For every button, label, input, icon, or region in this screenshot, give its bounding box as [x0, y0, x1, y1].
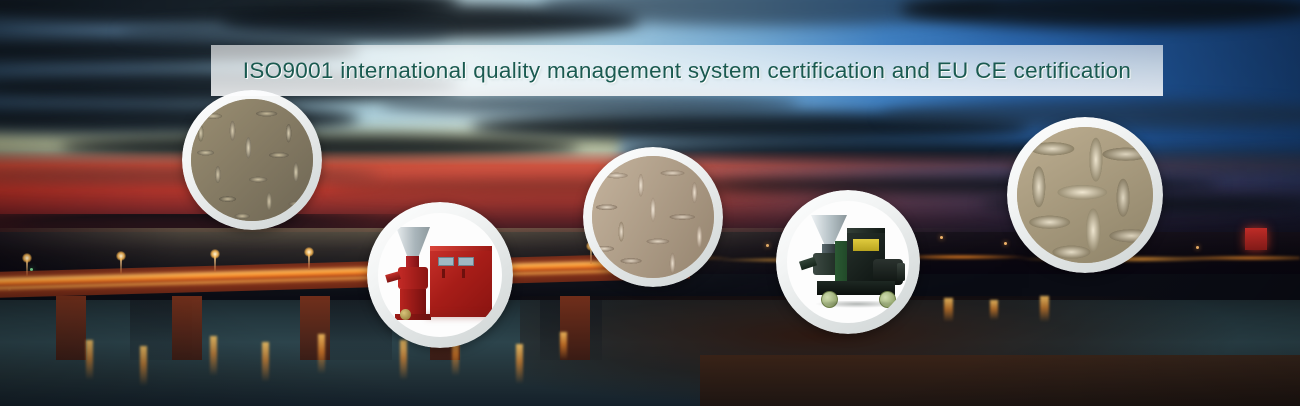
cabinet-display-right — [458, 257, 474, 266]
light-reflection — [86, 340, 93, 380]
bridge-lamp — [26, 258, 28, 276]
circle-red-pellet-mill — [367, 202, 513, 348]
circle-image — [592, 156, 714, 278]
light-reflection — [140, 346, 147, 386]
machine-die-housing — [398, 267, 428, 289]
wood-pellets-texture — [1017, 127, 1153, 263]
machine-body-cap — [847, 228, 885, 233]
cabinet-knob — [462, 269, 465, 278]
circle-wood-pellets-closeup — [1007, 117, 1163, 273]
circle-wood-pellets-dark — [182, 90, 322, 230]
machine-shadow — [815, 301, 899, 308]
circle-image — [378, 213, 502, 337]
bridge-lamp — [120, 256, 122, 274]
machine-motor-fan-cover — [897, 263, 905, 281]
circle-image — [787, 201, 909, 323]
bridge-pier — [300, 296, 330, 360]
control-cabinet-top — [430, 246, 492, 251]
river-far-bank — [700, 355, 1300, 406]
headline-text: ISO9001 international quality management… — [243, 58, 1131, 84]
bridge-pier — [172, 296, 202, 360]
light-reflection — [560, 332, 567, 360]
bridge-lamp — [214, 254, 216, 272]
light-reflection — [400, 340, 407, 380]
bridge-pier — [56, 296, 86, 360]
cabinet-knob — [442, 269, 445, 278]
light-reflection — [944, 298, 953, 322]
circle-wood-pellets-light — [583, 147, 723, 287]
light-reflection — [990, 300, 998, 320]
wood-pellets-texture — [191, 99, 313, 221]
machine-badge — [400, 309, 411, 320]
light-reflection — [318, 334, 325, 374]
circle-image — [1017, 127, 1153, 263]
light-reflection — [210, 336, 217, 376]
cabinet-display-left — [438, 257, 454, 266]
light-reflection — [262, 342, 269, 382]
bridge-lamp — [308, 252, 310, 270]
circle-green-pellet-mill — [776, 190, 920, 334]
circle-image — [191, 99, 313, 221]
headline-panel: ISO9001 international quality management… — [211, 45, 1163, 96]
light-reflection — [516, 344, 523, 384]
promo-banner: ISO9001 international quality management… — [0, 0, 1300, 406]
machine-nameplate — [853, 239, 879, 251]
cloud-streak — [120, 22, 450, 44]
cabinet-shadow — [426, 313, 496, 321]
wood-pellets-texture — [592, 156, 714, 278]
light-reflection — [1040, 296, 1049, 322]
